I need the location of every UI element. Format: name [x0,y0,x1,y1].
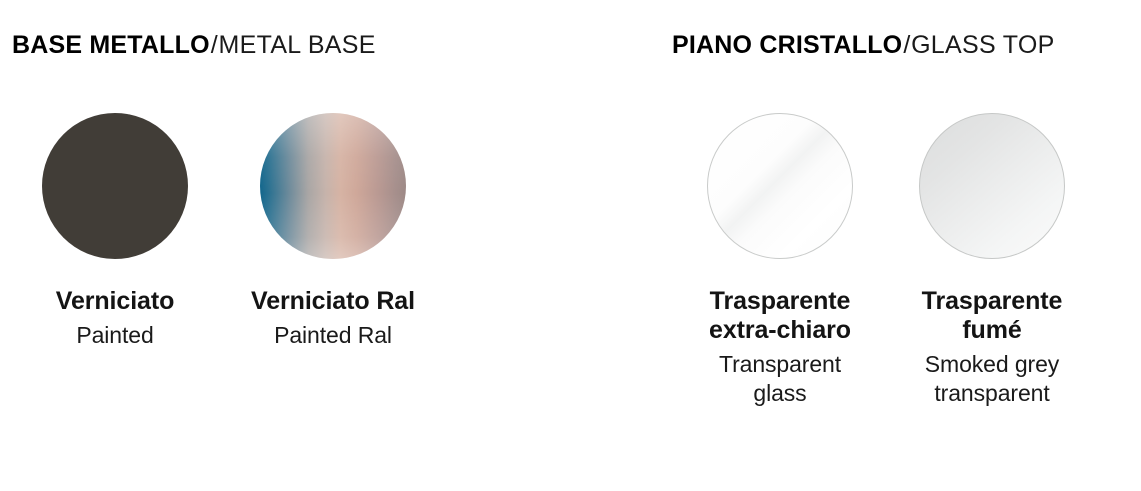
color-disc-painted-ral[interactable] [260,113,406,259]
section-title-en: METAL BASE [219,31,376,59]
swatch-trasparente-extra-chiaro[interactable]: Trasparente extra-chiaro Transparent gla… [671,113,889,408]
swatch-label-en-line1: Transparent [671,350,889,379]
swatch-label-en: Painted Ral [224,321,442,350]
swatch-label-en: Smoked grey transparent [883,350,1101,408]
section-title-separator: / [902,31,911,59]
swatch-label-en-line1: Smoked grey [883,350,1101,379]
section-title-separator: / [210,31,219,59]
swatch-label-en: Transparent glass [671,350,889,408]
swatch-label-it-line1: Trasparente [883,287,1101,316]
color-disc-painted[interactable] [42,113,188,259]
swatch-label-en-line2: transparent [883,379,1101,408]
section-title-en: GLASS TOP [911,31,1055,59]
swatch-label-en-line2: glass [671,379,889,408]
swatch-label-it: Verniciato Ral [224,287,442,316]
section-heading-metal-base: BASE METALLO/METAL BASE [12,30,376,60]
swatch-disc-wrap [883,113,1101,261]
swatch-label-en: Painted [6,321,224,350]
section-title-it: PIANO CRISTALLO [672,31,902,59]
swatch-disc-wrap [6,113,224,261]
swatch-verniciato-ral[interactable]: Verniciato Ral Painted Ral [224,113,442,350]
swatch-label-it: Trasparente extra-chiaro [671,287,889,345]
section-title-it: BASE METALLO [12,31,210,59]
swatch-label-it-line1: Trasparente [671,287,889,316]
swatch-disc-wrap [224,113,442,261]
swatch-label-it: Verniciato [6,287,224,316]
swatch-label-it-line2: fumé [883,316,1101,345]
swatch-disc-wrap [671,113,889,261]
swatch-label-it: Trasparente fumé [883,287,1101,345]
swatch-verniciato[interactable]: Verniciato Painted [6,113,224,350]
material-finishes-board: BASE METALLO/METAL BASE Verniciato Paint… [0,0,1141,491]
color-disc-transparent-clear[interactable] [707,113,853,259]
swatch-trasparente-fume[interactable]: Trasparente fumé Smoked grey transparent [883,113,1101,408]
section-heading-glass-top: PIANO CRISTALLO/GLASS TOP [672,30,1055,60]
color-disc-smoked-grey[interactable] [919,113,1065,259]
swatch-label-it-line2: extra-chiaro [671,316,889,345]
